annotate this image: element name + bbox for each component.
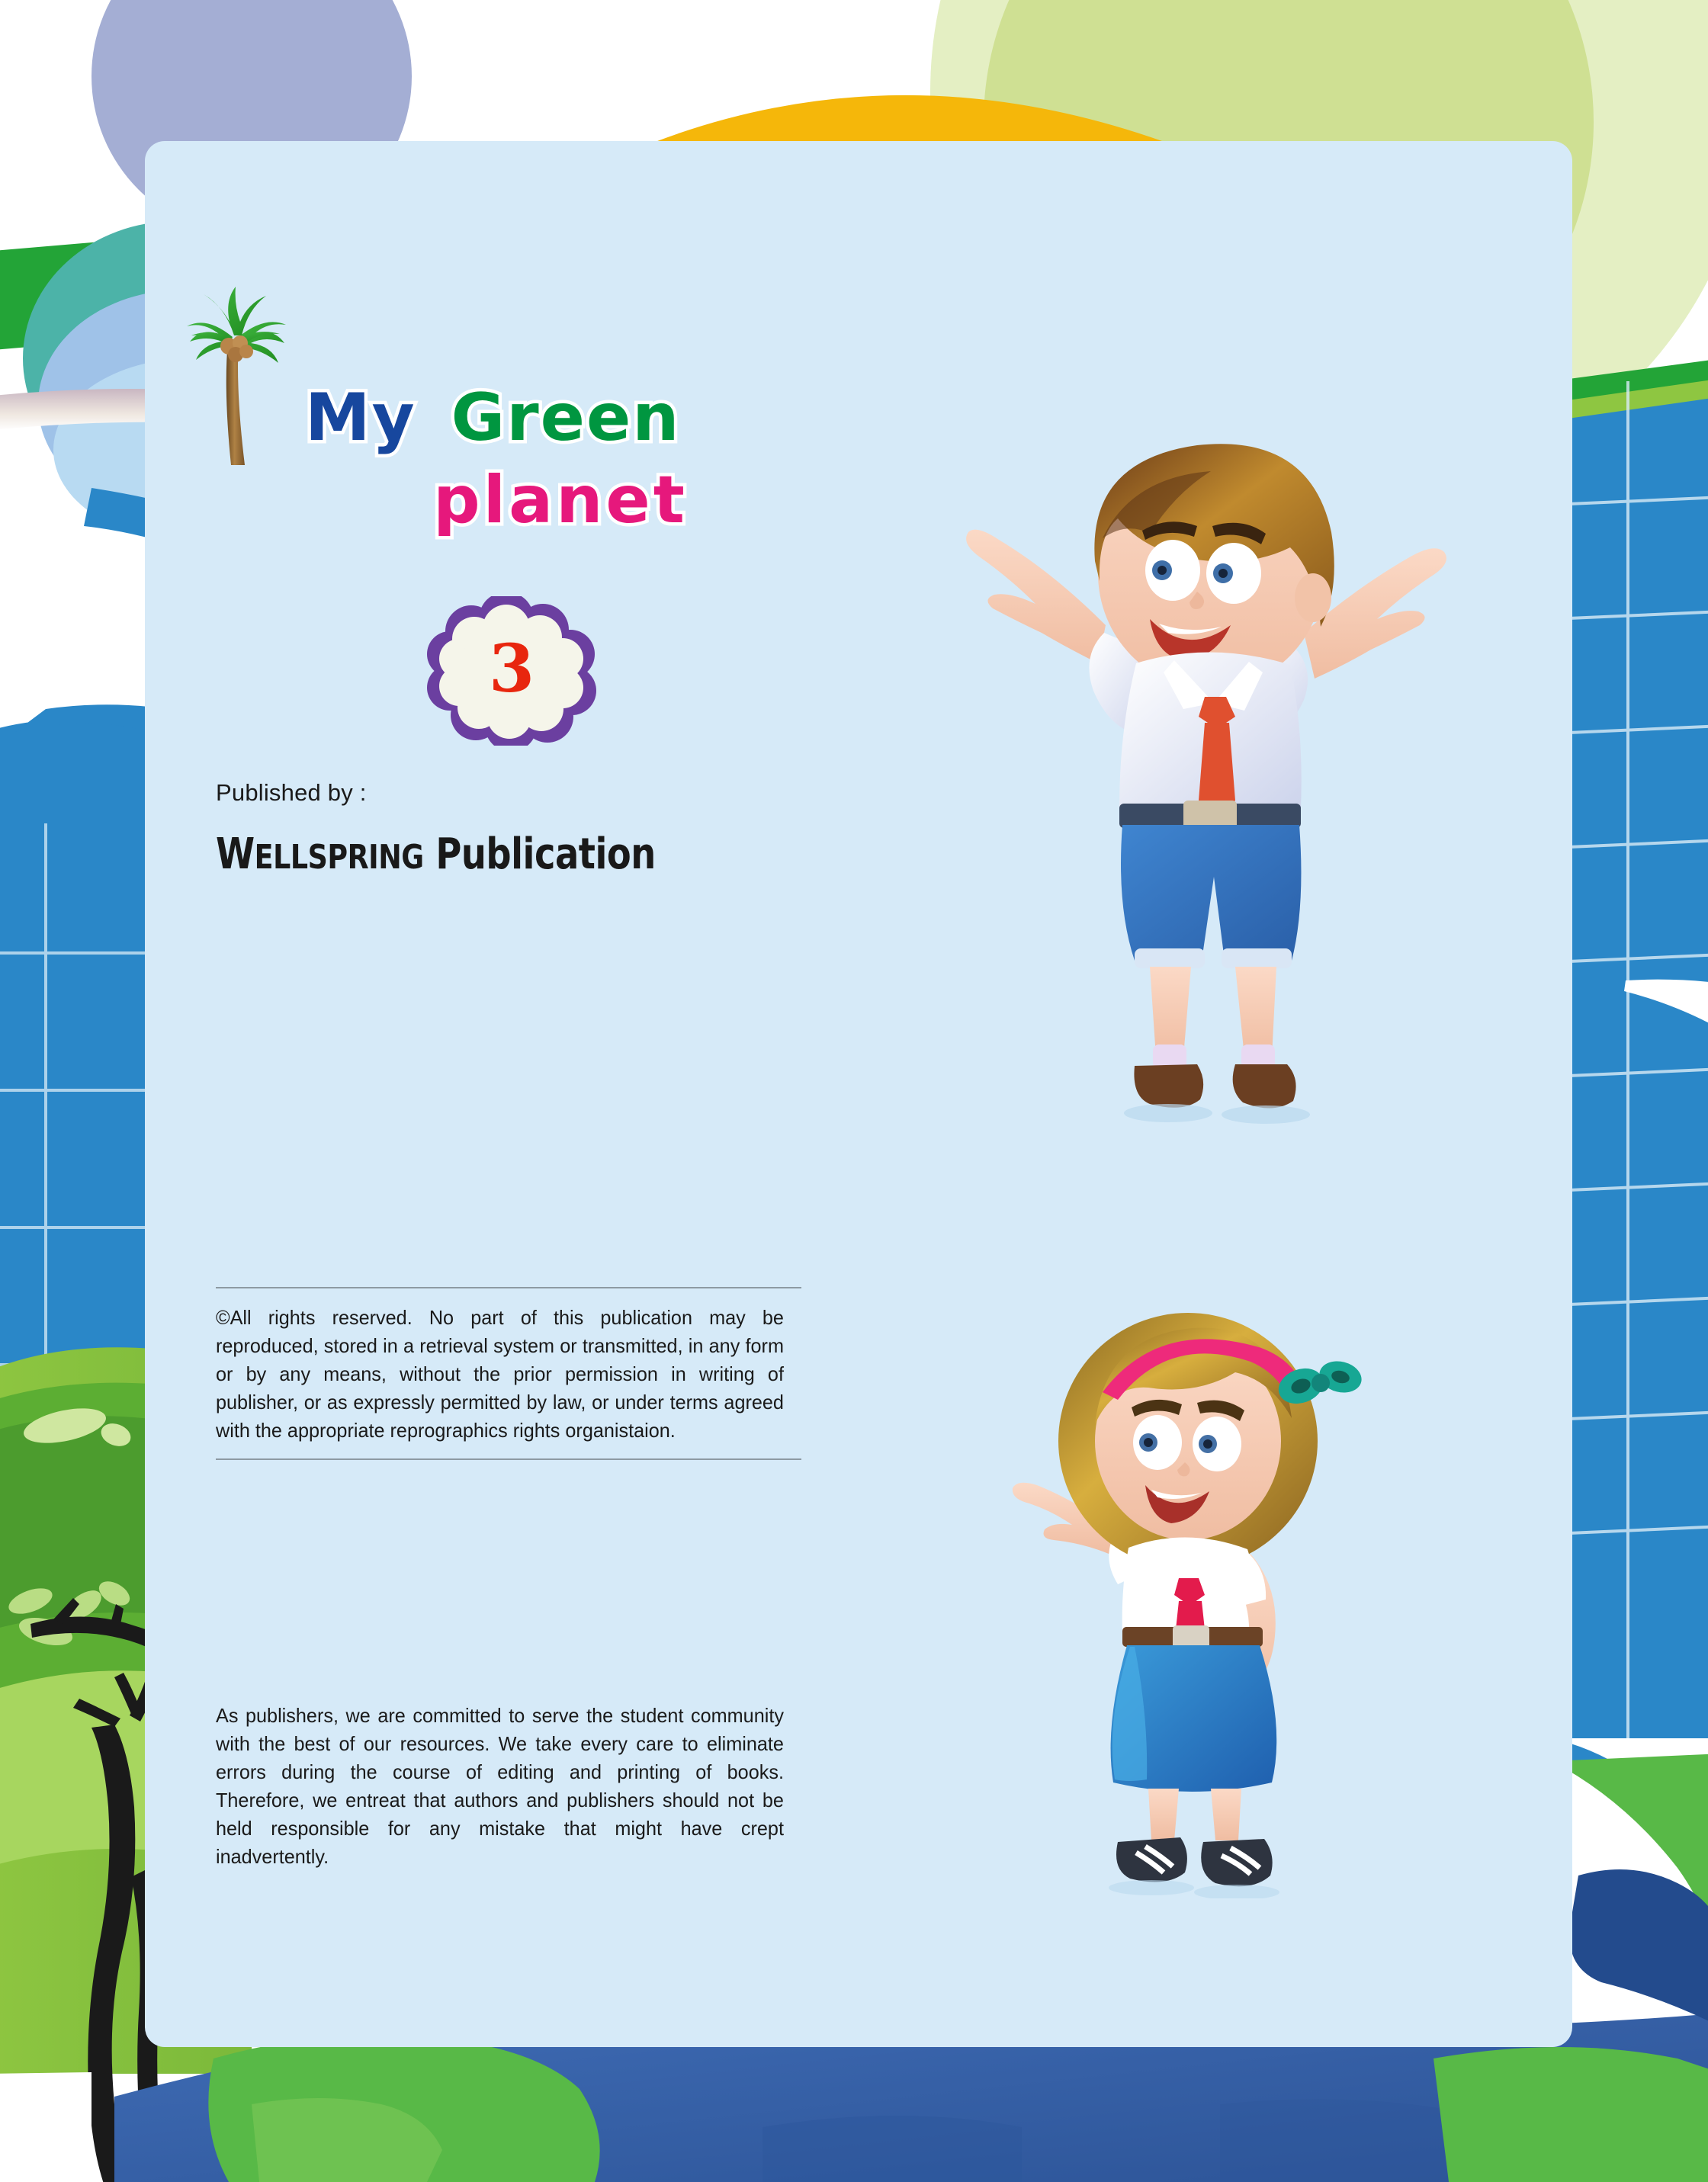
grade-badge-number: 3 [427, 596, 596, 746]
copyright-text: ©All rights reserved. No part of this pu… [216, 1288, 784, 1458]
grade-badge: 3 [427, 596, 596, 746]
palm-tree-icon [185, 284, 289, 465]
book-title: MyGreen planet [305, 385, 839, 533]
title-word-my: My [305, 380, 416, 456]
published-by-label: Published by : [216, 779, 367, 807]
publisher-name-smallcaps: ELLSPRING [255, 838, 424, 877]
rule-bottom [216, 1458, 801, 1460]
title-line-two: planet [305, 467, 839, 533]
boy-shorts [1121, 825, 1301, 961]
publisher-name-cap: W [216, 829, 255, 879]
girl-character [999, 1288, 1372, 1898]
publisher-name: WELLSPRING Publication [216, 829, 656, 879]
publisher-name-rest: Publication [424, 829, 656, 879]
title-word-planet: planet [433, 462, 688, 538]
boy-character [945, 404, 1479, 1151]
copyright-block: ©All rights reserved. No part of this pu… [216, 1287, 801, 1460]
title-line-one: MyGreen [305, 385, 839, 451]
title-word-green: Green [451, 380, 681, 456]
publishers-note-text: As publishers, we are committed to serve… [216, 1702, 784, 1870]
book-title-page: MyGreen planet [0, 0, 1708, 2182]
card-content: MyGreen planet [0, 0, 1708, 2182]
boy-left-hand [966, 530, 1106, 663]
